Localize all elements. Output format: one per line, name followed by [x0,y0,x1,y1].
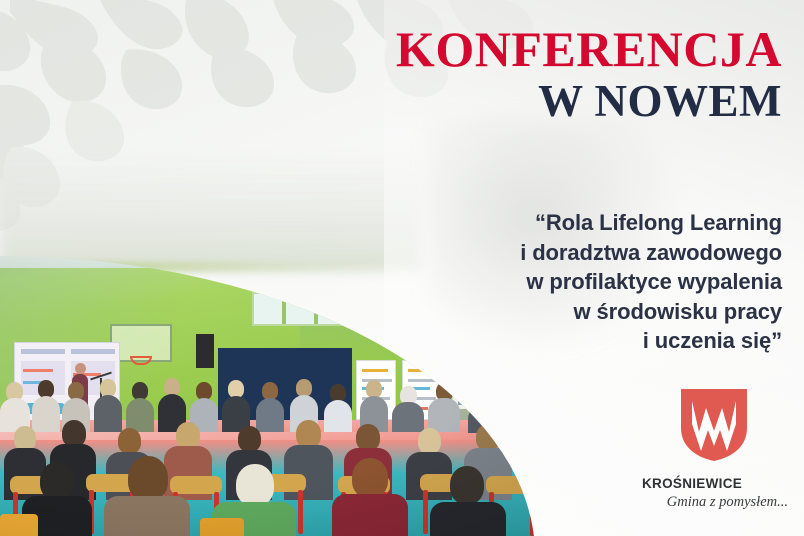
quote-line-1: “Rola Lifelong Learning [352,208,782,238]
quote-line-4: w środowisku pracy [352,297,782,327]
logo-tagline: Gmina z pomysłem... [640,494,788,511]
logo-municipality-name: KROŚNIEWICE [640,476,788,491]
headline-line-1: KONFERENCJA [282,22,782,76]
quote-line-3: w profilaktyce wypalenia [352,267,782,297]
quote-line-2: i doradztwa zawodowego [352,238,782,268]
krosniewice-coat-of-arms-icon [679,388,749,462]
krosniewice-logo: KROŚNIEWICE Gmina z pomysłem... [640,388,788,511]
headline-line-2: W NOWEM [282,76,782,126]
poster-headline: KONFERENCJA W NOWEM [282,22,782,126]
conference-poster: KONFERENCJA W NOWEM “Rola Lifelong Learn… [0,0,804,536]
conference-topic-quote: “Rola Lifelong Learning i doradztwa zawo… [352,208,782,356]
quote-line-5: i uczenia się” [352,326,782,356]
